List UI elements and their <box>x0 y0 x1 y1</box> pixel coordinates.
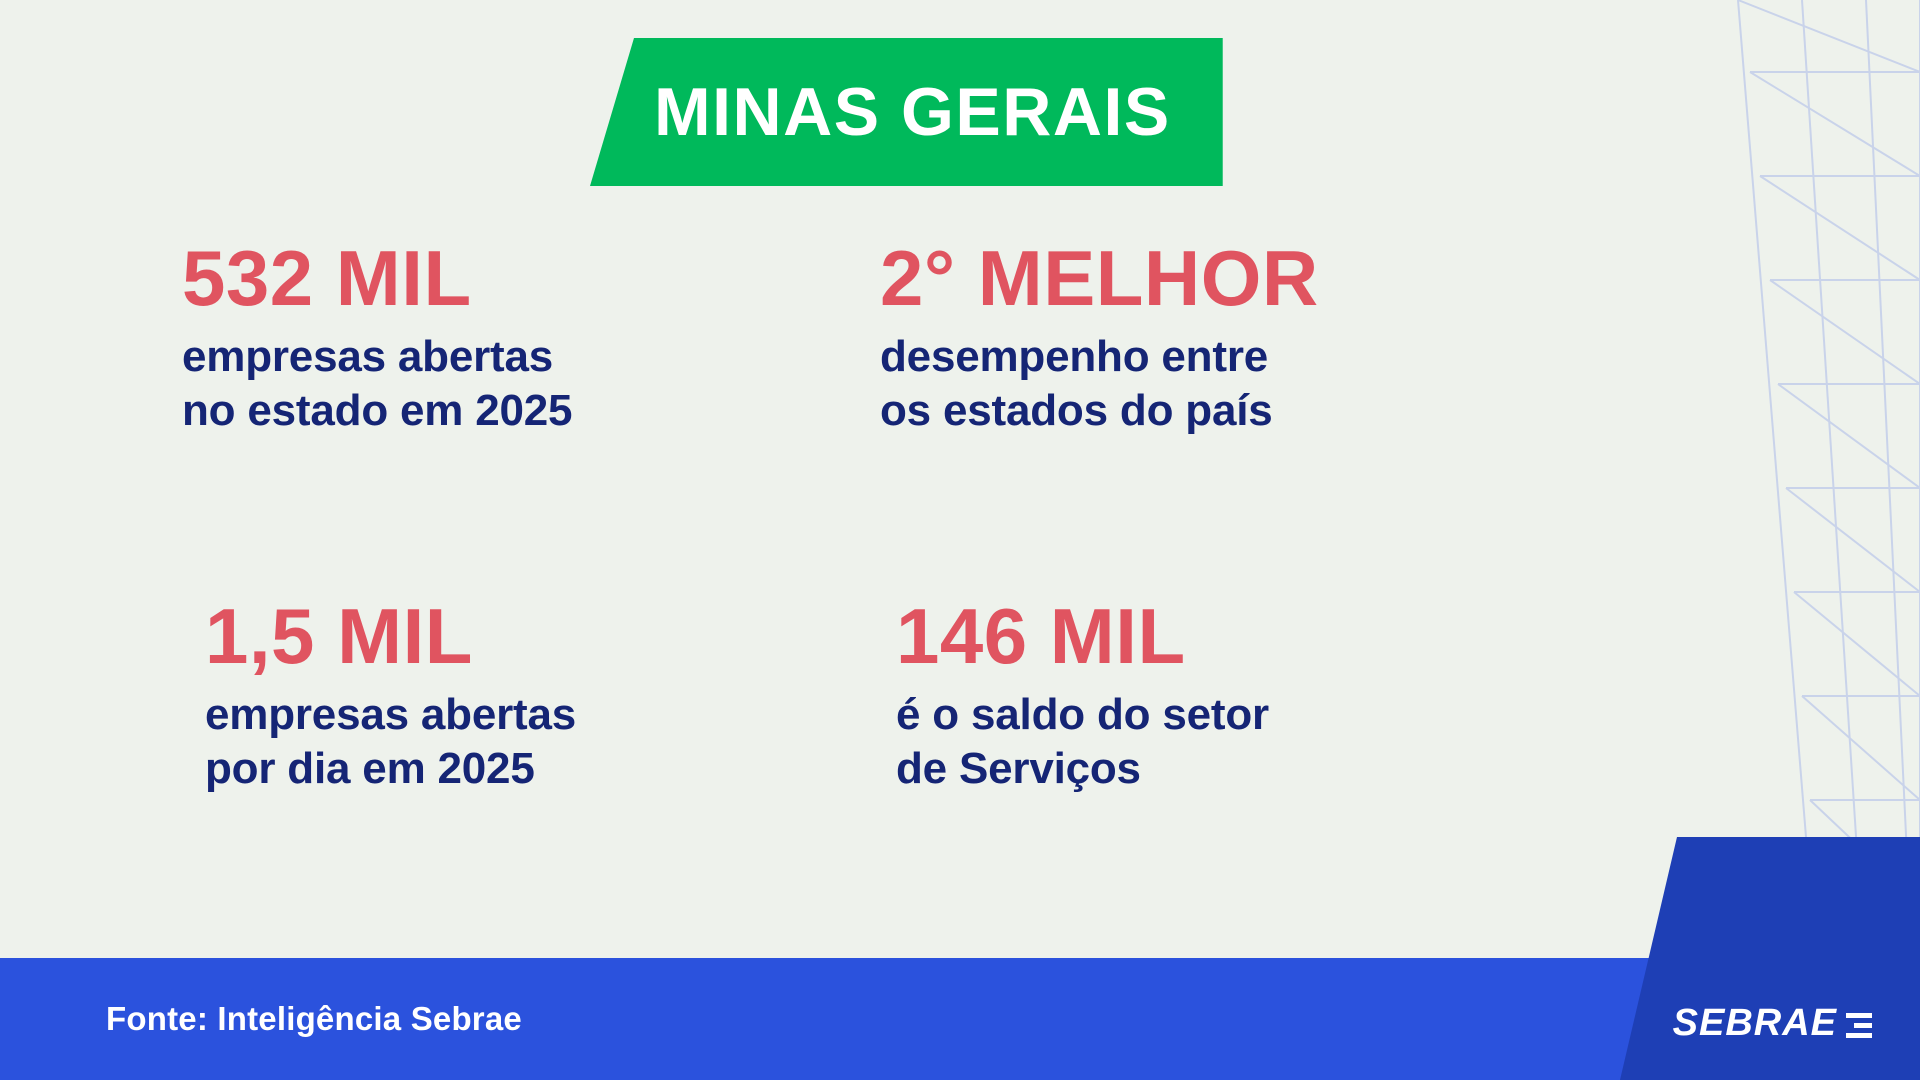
page-title: MINAS GERAIS <box>654 78 1171 146</box>
stat-description-line2: de Serviços <box>896 742 1420 796</box>
stat-block-services-balance: 146 MIL é o saldo do setor de Serviços <box>860 548 1420 868</box>
stat-block-companies-per-day: 1,5 MIL empresas abertas por dia em 2025 <box>0 548 860 868</box>
stat-block-ranking: 2° MELHOR desempenho entre os estados do… <box>860 228 1420 548</box>
source-label: Fonte: Inteligência Sebrae <box>106 1000 522 1038</box>
stat-value: 1,5 MIL <box>205 596 860 678</box>
sebrae-wordmark: SEBRAE <box>1673 1004 1837 1042</box>
sebrae-bars-icon <box>1846 1013 1872 1042</box>
decorative-line-grid <box>1620 0 1920 960</box>
statistics-grid: 532 MIL empresas abertas no estado em 20… <box>0 228 1420 868</box>
stat-description-line2: no estado em 2025 <box>182 384 860 438</box>
stat-value: 2° MELHOR <box>880 238 1420 320</box>
infographic-poster: MINAS GERAIS 532 MIL empresas abertas no… <box>0 0 1920 1080</box>
stat-description: empresas abertas no estado em 2025 <box>182 330 860 437</box>
stat-description-line2: os estados do país <box>880 384 1420 438</box>
stat-description-line1: empresas abertas <box>182 330 860 384</box>
stat-description-line2: por dia em 2025 <box>205 742 860 796</box>
stat-block-companies-opened: 532 MIL empresas abertas no estado em 20… <box>0 228 860 548</box>
stat-description: desempenho entre os estados do país <box>880 330 1420 437</box>
sebrae-logo: SEBRAE <box>1673 1004 1872 1042</box>
stat-description: empresas abertas por dia em 2025 <box>205 688 860 795</box>
stat-description: é o saldo do setor de Serviços <box>896 688 1420 795</box>
stat-description-line1: empresas abertas <box>205 688 860 742</box>
title-banner: MINAS GERAIS <box>590 38 1223 186</box>
stat-value: 146 MIL <box>896 596 1420 678</box>
stat-description-line1: é o saldo do setor <box>896 688 1420 742</box>
stat-value: 532 MIL <box>182 238 860 320</box>
stat-description-line1: desempenho entre <box>880 330 1420 384</box>
